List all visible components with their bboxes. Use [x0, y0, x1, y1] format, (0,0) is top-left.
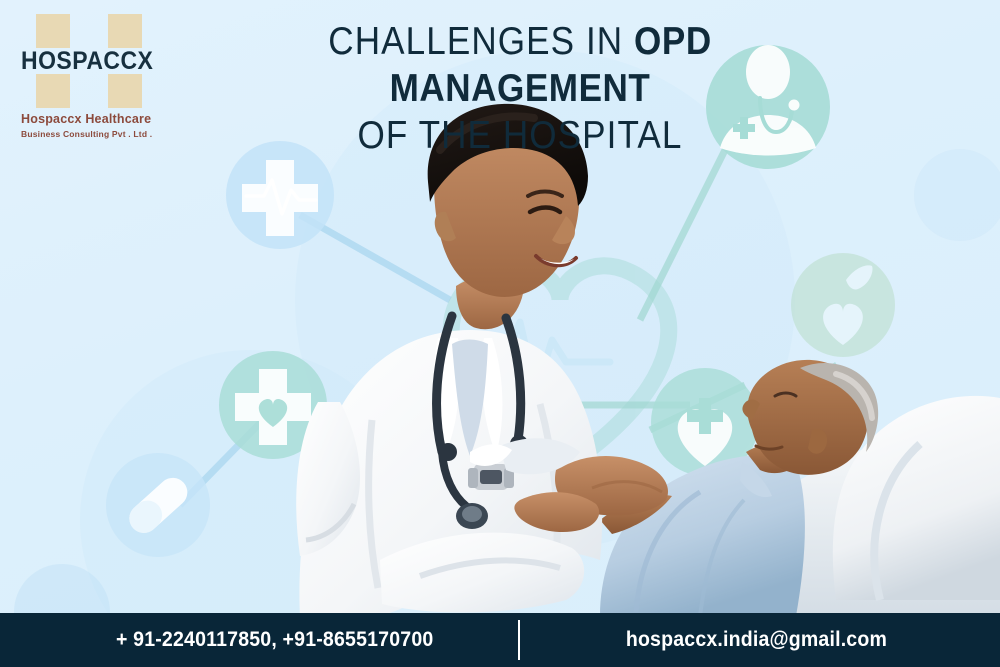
logo-mark: HOSPACCX: [18, 12, 144, 108]
headline-line-1: CHALLENGES IN OPD MANAGEMENT: [232, 18, 808, 112]
footer-email-address[interactable]: hospaccx.india@gmail.com: [626, 628, 887, 652]
brand-logo: HOSPACCX Hospaccx Healthcare Business Co…: [18, 12, 163, 140]
contact-footer-bar: + 91-2240117850, +91-8655170700 hospaccx…: [0, 613, 1000, 667]
logo-wordmark: HOSPACCX: [21, 48, 150, 74]
footer-divider: [518, 620, 520, 660]
page-title: CHALLENGES IN OPD MANAGEMENT OF THE HOSP…: [232, 18, 808, 159]
logo-square-top-left: [36, 14, 70, 48]
logo-tagline-primary: Hospaccx Healthcare: [21, 112, 171, 126]
headline-line-2: OF THE HOSPITAL: [232, 112, 808, 159]
doctor-figure: [296, 104, 668, 616]
promotional-banner: HOSPACCX Hospaccx Healthcare Business Co…: [0, 0, 1000, 667]
logo-square-bottom-right: [108, 74, 142, 108]
logo-square-top-right: [108, 14, 142, 48]
headline-plain-text: CHALLENGES IN: [328, 20, 634, 63]
logo-square-bottom-left: [36, 74, 70, 108]
footer-phone-numbers[interactable]: + 91-2240117850, +91-8655170700: [116, 628, 433, 652]
logo-tagline-secondary: Business Consulting Pvt . Ltd .: [21, 129, 181, 139]
